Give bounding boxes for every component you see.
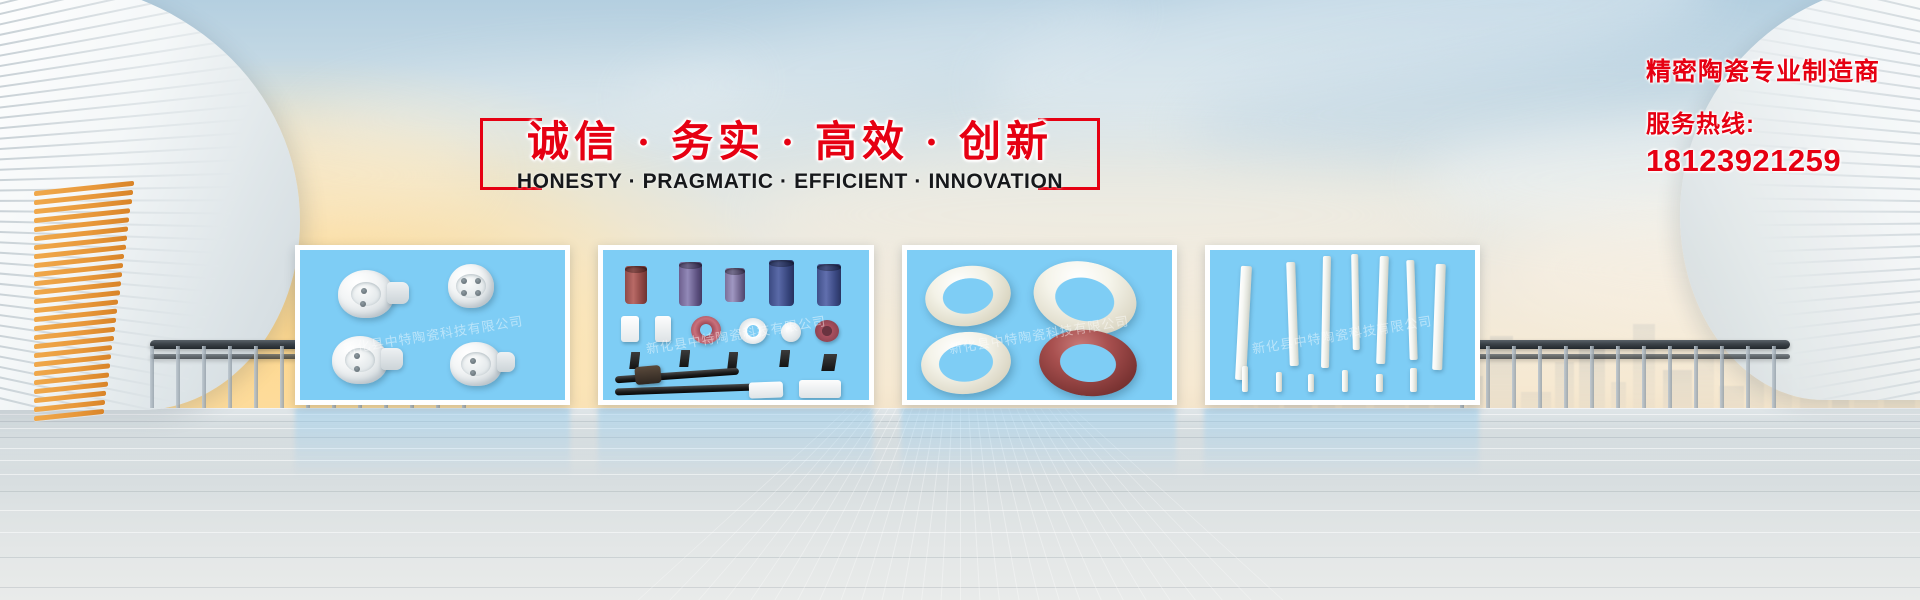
ceramic-rod-short — [1242, 366, 1248, 392]
ceramic-tube-violet — [679, 262, 702, 306]
ceramic-tube-violet — [725, 268, 745, 302]
ceramic-disc-white — [781, 322, 801, 342]
product-panel-ceramic-rings[interactable]: 新化县中特陶瓷科技有限公司 — [902, 245, 1177, 405]
ceramic-socket — [332, 336, 388, 384]
ceramic-tube-blue — [769, 260, 794, 306]
wooden-louvers — [34, 181, 134, 422]
company-tagline: 精密陶瓷专业制造商 — [1646, 52, 1880, 88]
ceramic-rod — [1321, 256, 1331, 368]
ceramic-rod-short — [1308, 374, 1314, 392]
plaza-floor — [0, 408, 1920, 600]
ceramic-wedge — [779, 350, 790, 367]
headline-block: 诚信 · 务实 · 高效 · 创新 HONESTY · PRAGMATIC · … — [480, 108, 1100, 198]
ceramic-ring-maroon-large — [1035, 325, 1139, 401]
ceramic-rod — [1235, 266, 1252, 380]
ceramic-ring-large — [918, 328, 1013, 398]
ceramic-wedge — [821, 354, 837, 371]
product-panel-ceramic-rods[interactable]: 新化县中特陶瓷科技有限公司 — [1205, 245, 1480, 405]
slogan-english: HONESTY · PRAGMATIC · EFFICIENT · INNOVA… — [480, 170, 1100, 194]
cable-ferrule — [635, 365, 662, 385]
panel-reflection — [295, 408, 570, 478]
ceramic-rod — [1351, 254, 1360, 350]
ceramic-rod-short — [1342, 370, 1348, 392]
product-stage — [1210, 250, 1475, 400]
ceramic-insulator — [655, 316, 671, 342]
ceramic-wedge — [679, 350, 690, 367]
panel-reflection — [1204, 408, 1479, 478]
slogan-chinese: 诚信 · 务实 · 高效 · 创新 — [480, 108, 1100, 169]
product-stage — [300, 250, 565, 400]
hotline-number[interactable]: 18123921259 — [1646, 143, 1880, 179]
ceramic-rod-short — [1410, 368, 1417, 392]
ceramic-socket — [338, 270, 394, 318]
ceramic-rod — [1406, 260, 1417, 360]
product-stage — [603, 250, 868, 400]
power-cable — [615, 384, 755, 396]
promo-banner: 诚信 · 务实 · 高效 · 创新 HONESTY · PRAGMATIC · … — [0, 0, 1920, 600]
panel-reflection — [598, 408, 873, 478]
ceramic-ring-maroon — [815, 320, 839, 342]
hotline-label: 服务热线: — [1646, 104, 1880, 139]
ceramic-ring-large — [921, 260, 1015, 331]
ceramic-ring-maroon — [691, 316, 721, 344]
ceramic-rod-short — [1276, 372, 1282, 392]
ceramic-rod-short — [1376, 374, 1383, 392]
cable-connector — [799, 380, 841, 398]
ceramic-insulator — [621, 316, 639, 342]
ceramic-tube-red — [625, 266, 647, 304]
product-stage — [907, 250, 1172, 400]
ceramic-ring-white — [739, 318, 767, 344]
product-panel-ceramic-tubes[interactable]: 新化县中特陶瓷科技有限公司 — [598, 245, 873, 405]
ceramic-wedge — [727, 352, 738, 369]
cable-connector — [749, 381, 784, 398]
panel-reflection — [901, 408, 1176, 478]
ceramic-tube-blue — [817, 264, 841, 306]
ceramic-rod — [1376, 256, 1389, 364]
product-panel-row: 新化县中特陶瓷科技有限公司 — [295, 245, 1480, 405]
ceramic-rod — [1432, 264, 1446, 370]
contact-block: 精密陶瓷专业制造商 服务热线: 18123921259 — [1646, 52, 1880, 179]
ceramic-socket — [450, 342, 502, 386]
product-panel-ceramic-lamp-sockets[interactable]: 新化县中特陶瓷科技有限公司 — [295, 245, 570, 405]
ceramic-rod — [1286, 262, 1299, 366]
ceramic-socket — [448, 264, 494, 308]
